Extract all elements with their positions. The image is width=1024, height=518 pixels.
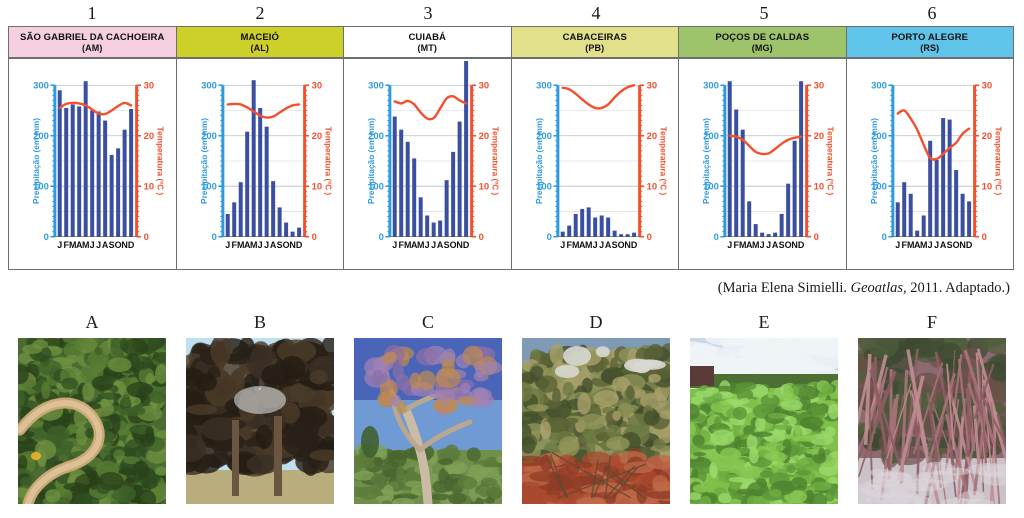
precip-bar <box>458 122 462 237</box>
precip-bar <box>747 201 751 236</box>
climogram-svg-1: 01002003000102030Precipitação (em mm)Tem… <box>9 59 176 269</box>
climogram-svg-6: 01002003000102030Precipitação (em mm)Tem… <box>847 59 1014 269</box>
svg-text:20: 20 <box>814 131 825 142</box>
month-tick-label: J <box>257 240 262 250</box>
station-name: CUIABÁ <box>408 32 446 43</box>
precip-bar <box>438 221 442 237</box>
precip-bar <box>64 108 68 237</box>
month-tick-label: J <box>264 240 269 250</box>
panel-number-3: 3 <box>344 2 512 26</box>
precip-bar <box>419 197 423 236</box>
precip-bar <box>902 182 906 237</box>
photo-letter-a: A <box>8 310 176 336</box>
precip-bar <box>284 223 288 237</box>
precip-bar <box>412 158 416 236</box>
precip-bar <box>767 234 771 237</box>
svg-text:300: 300 <box>703 80 719 91</box>
precip-bar <box>599 215 603 236</box>
station-name: CABACEIRAS <box>563 32 627 43</box>
precip-bar <box>464 61 468 237</box>
precip-bar <box>760 233 764 237</box>
precip-bar <box>780 214 784 237</box>
y-axis-label-left: Precipitação (em mm) <box>32 118 41 204</box>
month-tick-label: J <box>766 240 771 250</box>
svg-text:300: 300 <box>33 80 49 91</box>
precip-bar <box>606 218 610 237</box>
photo-row <box>8 338 1016 510</box>
precip-bar <box>593 218 597 237</box>
station-state: (PB) <box>585 43 604 53</box>
month-tick-label: J <box>96 240 101 250</box>
month-tick-label: M <box>919 240 926 250</box>
month-tick-label: J <box>431 240 436 250</box>
precip-bar <box>960 194 964 237</box>
station-state: (MG) <box>752 43 773 53</box>
station-state: (AM) <box>82 43 102 53</box>
panel-header-4: CABACEIRAS(PB) <box>512 27 679 59</box>
precip-bar <box>632 233 636 237</box>
y-axis-label-left: Precipitação (em mm) <box>534 118 543 204</box>
station-state: (MT) <box>418 43 437 53</box>
precip-bar <box>232 202 236 236</box>
month-tick-label: J <box>895 240 900 250</box>
precip-bar <box>297 228 301 237</box>
precip-bar <box>451 152 455 237</box>
month-tick-label: J <box>560 240 565 250</box>
precip-bar <box>954 170 958 237</box>
month-tick-label: J <box>90 240 95 250</box>
photo-b <box>186 338 334 504</box>
precip-bar <box>251 80 255 236</box>
month-tick-label: D <box>630 240 637 250</box>
month-tick-label: D <box>295 240 302 250</box>
svg-text:10: 10 <box>479 181 490 192</box>
panel-number-1: 1 <box>8 2 176 26</box>
panel-plot-area-6: 01002003000102030Precipitação (em mm)Tem… <box>847 59 1014 269</box>
month-tick-label: M <box>752 240 759 250</box>
climogram-panel-3: CUIABÁ(MT)01002003000102030Precipitação … <box>344 27 512 269</box>
photo-c <box>354 338 502 504</box>
station-state: (RS) <box>920 43 939 53</box>
precip-bar <box>619 234 623 237</box>
precip-bar <box>58 90 62 236</box>
precip-bar <box>754 224 758 237</box>
precip-bar <box>110 155 114 237</box>
photo-a <box>18 338 166 504</box>
panel-header-3: CUIABÁ(MT) <box>344 27 511 59</box>
month-tick-label: M <box>82 240 89 250</box>
precip-bar <box>915 231 919 237</box>
temperature-line <box>60 103 131 114</box>
precip-bar <box>425 215 429 236</box>
svg-text:0: 0 <box>714 232 719 243</box>
panel-number-5: 5 <box>680 2 848 26</box>
climogram-svg-3: 01002003000102030Precipitação (em mm)Tem… <box>344 59 511 269</box>
precip-bar <box>786 184 790 237</box>
photo-letter-f: F <box>848 310 1016 336</box>
precip-bar <box>90 110 94 236</box>
svg-text:0: 0 <box>646 232 651 243</box>
panel-plot-area-3: 01002003000102030Precipitação (em mm)Tem… <box>344 59 511 269</box>
svg-text:0: 0 <box>814 232 819 243</box>
photo-letter-b: B <box>176 310 344 336</box>
precip-bar <box>567 226 571 237</box>
climogram-panel-6: PORTO ALEGRE(RS)01002003000102030Precipi… <box>847 27 1014 269</box>
precip-bar <box>728 81 732 236</box>
precip-bar <box>225 214 229 237</box>
precip-bar <box>560 232 564 237</box>
month-tick-label: J <box>592 240 597 250</box>
month-tick-label: J <box>727 240 732 250</box>
precip-bar <box>258 108 262 237</box>
photo-slot-d <box>512 338 680 510</box>
precip-bar <box>445 180 449 237</box>
precip-bar <box>908 194 912 237</box>
temperature-line <box>897 110 968 159</box>
svg-text:0: 0 <box>379 232 384 243</box>
precip-bar <box>793 141 797 237</box>
temperature-line <box>562 85 633 108</box>
photo-f <box>858 338 1006 504</box>
panel-number-2: 2 <box>176 2 344 26</box>
svg-text:300: 300 <box>871 80 887 91</box>
panel-header-5: POÇOS DE CALDAS(MG) <box>679 27 846 59</box>
svg-text:0: 0 <box>211 232 216 243</box>
precip-bar <box>97 112 101 237</box>
photo-slot-c <box>344 338 512 510</box>
station-name: PORTO ALEGRE <box>891 32 968 43</box>
climate-figure: 123456 SÃO GABRIEL DA CACHOEIRA(AM)01002… <box>0 0 1024 518</box>
month-tick-label: J <box>760 240 765 250</box>
svg-text:30: 30 <box>814 80 825 91</box>
svg-text:10: 10 <box>311 181 322 192</box>
precip-bar <box>123 130 127 237</box>
month-tick-label: J <box>599 240 604 250</box>
y-axis-label-right: Temperatura (ºC ) <box>491 127 500 196</box>
month-tick-label: J <box>934 240 939 250</box>
credit-title: Geoatlas, <box>851 280 907 296</box>
svg-text:30: 30 <box>981 80 992 91</box>
svg-text:0: 0 <box>479 232 484 243</box>
month-tick-label: J <box>225 240 230 250</box>
climogram-panel-2: MACEIÓ(AL)01002003000102030Precipitação … <box>177 27 345 269</box>
precip-bar <box>625 234 629 237</box>
source-credit: (Maria Elena Simielli. Geoatlas, 2011. A… <box>718 280 1010 297</box>
y-axis-label-left: Precipitação (em mm) <box>869 118 878 204</box>
svg-text:0: 0 <box>144 232 149 243</box>
svg-text:0: 0 <box>881 232 886 243</box>
photo-letter-e: E <box>680 310 848 336</box>
climogram-svg-4: 01002003000102030Precipitação (em mm)Tem… <box>512 59 679 269</box>
photo-d <box>522 338 670 504</box>
month-tick-label: J <box>425 240 430 250</box>
svg-text:10: 10 <box>981 181 992 192</box>
svg-text:300: 300 <box>536 80 552 91</box>
station-state: (AL) <box>251 43 269 53</box>
month-tick-label: D <box>128 240 135 250</box>
precip-bar <box>967 201 971 236</box>
panel-number-6: 6 <box>848 2 1016 26</box>
precip-bar <box>393 117 397 237</box>
precip-bar <box>116 148 120 236</box>
svg-text:30: 30 <box>311 80 322 91</box>
month-tick-label: J <box>392 240 397 250</box>
temperature-line <box>395 96 466 119</box>
svg-text:30: 30 <box>646 80 657 91</box>
y-axis-label-right: Temperatura (ºC ) <box>993 127 1002 196</box>
svg-text:0: 0 <box>311 232 316 243</box>
precip-bar <box>895 202 899 236</box>
y-axis-label-left: Precipitação (em mm) <box>702 118 711 204</box>
precip-bar <box>586 207 590 236</box>
precip-bar <box>71 104 75 236</box>
y-axis-label-left: Precipitação (em mm) <box>199 118 208 204</box>
precip-bar <box>271 181 275 237</box>
precip-bar <box>941 118 945 237</box>
svg-text:10: 10 <box>144 181 155 192</box>
photo-slot-b <box>176 338 344 510</box>
climogram-panel-4: CABACEIRAS(PB)01002003000102030Precipita… <box>512 27 680 269</box>
svg-text:0: 0 <box>546 232 551 243</box>
panel-number-4: 4 <box>512 2 680 26</box>
y-axis-label-right: Temperatura (ºC ) <box>323 127 332 196</box>
svg-text:10: 10 <box>646 181 657 192</box>
station-name: POÇOS DE CALDAS <box>715 32 809 43</box>
climogram-panel-5: POÇOS DE CALDAS(MG)01002003000102030Prec… <box>679 27 847 269</box>
y-axis-label-right: Temperatura (ºC ) <box>826 127 835 196</box>
panel-header-1: SÃO GABRIEL DA CACHOEIRA(AM) <box>9 27 176 59</box>
precip-bar <box>277 207 281 236</box>
svg-text:20: 20 <box>144 131 155 142</box>
climogram-svg-2: 01002003000102030Precipitação (em mm)Tem… <box>177 59 344 269</box>
month-tick-label: M <box>584 240 591 250</box>
precip-bar <box>934 160 938 237</box>
precip-bar <box>103 121 107 237</box>
panel-header-6: PORTO ALEGRE(RS) <box>847 27 1014 59</box>
svg-text:30: 30 <box>144 80 155 91</box>
precip-bar <box>432 223 436 237</box>
credit-prefix: (Maria Elena Simielli. <box>718 280 851 296</box>
month-tick-label: D <box>463 240 470 250</box>
precip-bar <box>399 130 403 237</box>
month-tick-label: J <box>57 240 62 250</box>
precip-bar <box>77 106 81 236</box>
precip-bar <box>290 232 294 237</box>
climogram-panel-1: SÃO GABRIEL DA CACHOEIRA(AM)010020030001… <box>9 27 177 269</box>
svg-text:300: 300 <box>201 80 217 91</box>
panel-header-2: MACEIÓ(AL) <box>177 27 344 59</box>
precip-bar <box>741 130 745 237</box>
credit-suffix: 2011. Adaptado.) <box>907 280 1010 296</box>
month-tick-label: D <box>965 240 972 250</box>
panel-number-row: 123456 <box>8 2 1016 26</box>
photo-letter-row: ABCDEF <box>8 310 1016 336</box>
svg-text:20: 20 <box>479 131 490 142</box>
precip-bar <box>921 215 925 236</box>
panel-plot-area-2: 01002003000102030Precipitação (em mm)Tem… <box>177 59 344 269</box>
svg-text:30: 30 <box>479 80 490 91</box>
photo-letter-d: D <box>512 310 680 336</box>
month-tick-label: J <box>927 240 932 250</box>
climogram-svg-5: 01002003000102030Precipitação (em mm)Tem… <box>679 59 846 269</box>
svg-text:20: 20 <box>646 131 657 142</box>
precip-bar <box>406 142 410 237</box>
svg-text:20: 20 <box>981 131 992 142</box>
precip-bar <box>580 209 584 237</box>
precip-bar <box>773 233 777 237</box>
precip-bar <box>264 127 268 237</box>
svg-text:0: 0 <box>44 232 49 243</box>
climogram-strip: SÃO GABRIEL DA CACHOEIRA(AM)010020030001… <box>8 26 1014 270</box>
y-axis-label-right: Temperatura (ºC ) <box>156 127 165 196</box>
panel-plot-area-4: 01002003000102030Precipitação (em mm)Tem… <box>512 59 679 269</box>
photo-slot-f <box>848 338 1016 510</box>
svg-text:10: 10 <box>814 181 825 192</box>
panel-plot-area-5: 01002003000102030Precipitação (em mm)Tem… <box>679 59 846 269</box>
precip-bar <box>129 109 133 237</box>
month-tick-label: D <box>798 240 805 250</box>
precip-bar <box>245 132 249 237</box>
month-tick-label: M <box>417 240 424 250</box>
temperature-line <box>730 136 801 154</box>
svg-text:20: 20 <box>311 131 322 142</box>
precip-bar <box>612 231 616 237</box>
precip-bar <box>573 214 577 237</box>
panel-plot-area-1: 01002003000102030Precipitação (em mm)Tem… <box>9 59 176 269</box>
precip-bar <box>734 109 738 236</box>
y-axis-label-left: Precipitação (em mm) <box>367 118 376 204</box>
svg-text:0: 0 <box>981 232 986 243</box>
station-name: SÃO GABRIEL DA CACHOEIRA <box>20 32 164 43</box>
photo-letter-c: C <box>344 310 512 336</box>
y-axis-label-right: Temperatura (ºC ) <box>658 127 667 196</box>
photo-slot-e <box>680 338 848 510</box>
station-name: MACEIÓ <box>240 32 279 43</box>
photo-e <box>690 338 838 504</box>
photo-slot-a <box>8 338 176 510</box>
precip-bar <box>947 120 951 237</box>
precip-bar <box>799 81 803 236</box>
month-tick-label: M <box>249 240 256 250</box>
precip-bar <box>238 182 242 237</box>
svg-text:300: 300 <box>368 80 384 91</box>
